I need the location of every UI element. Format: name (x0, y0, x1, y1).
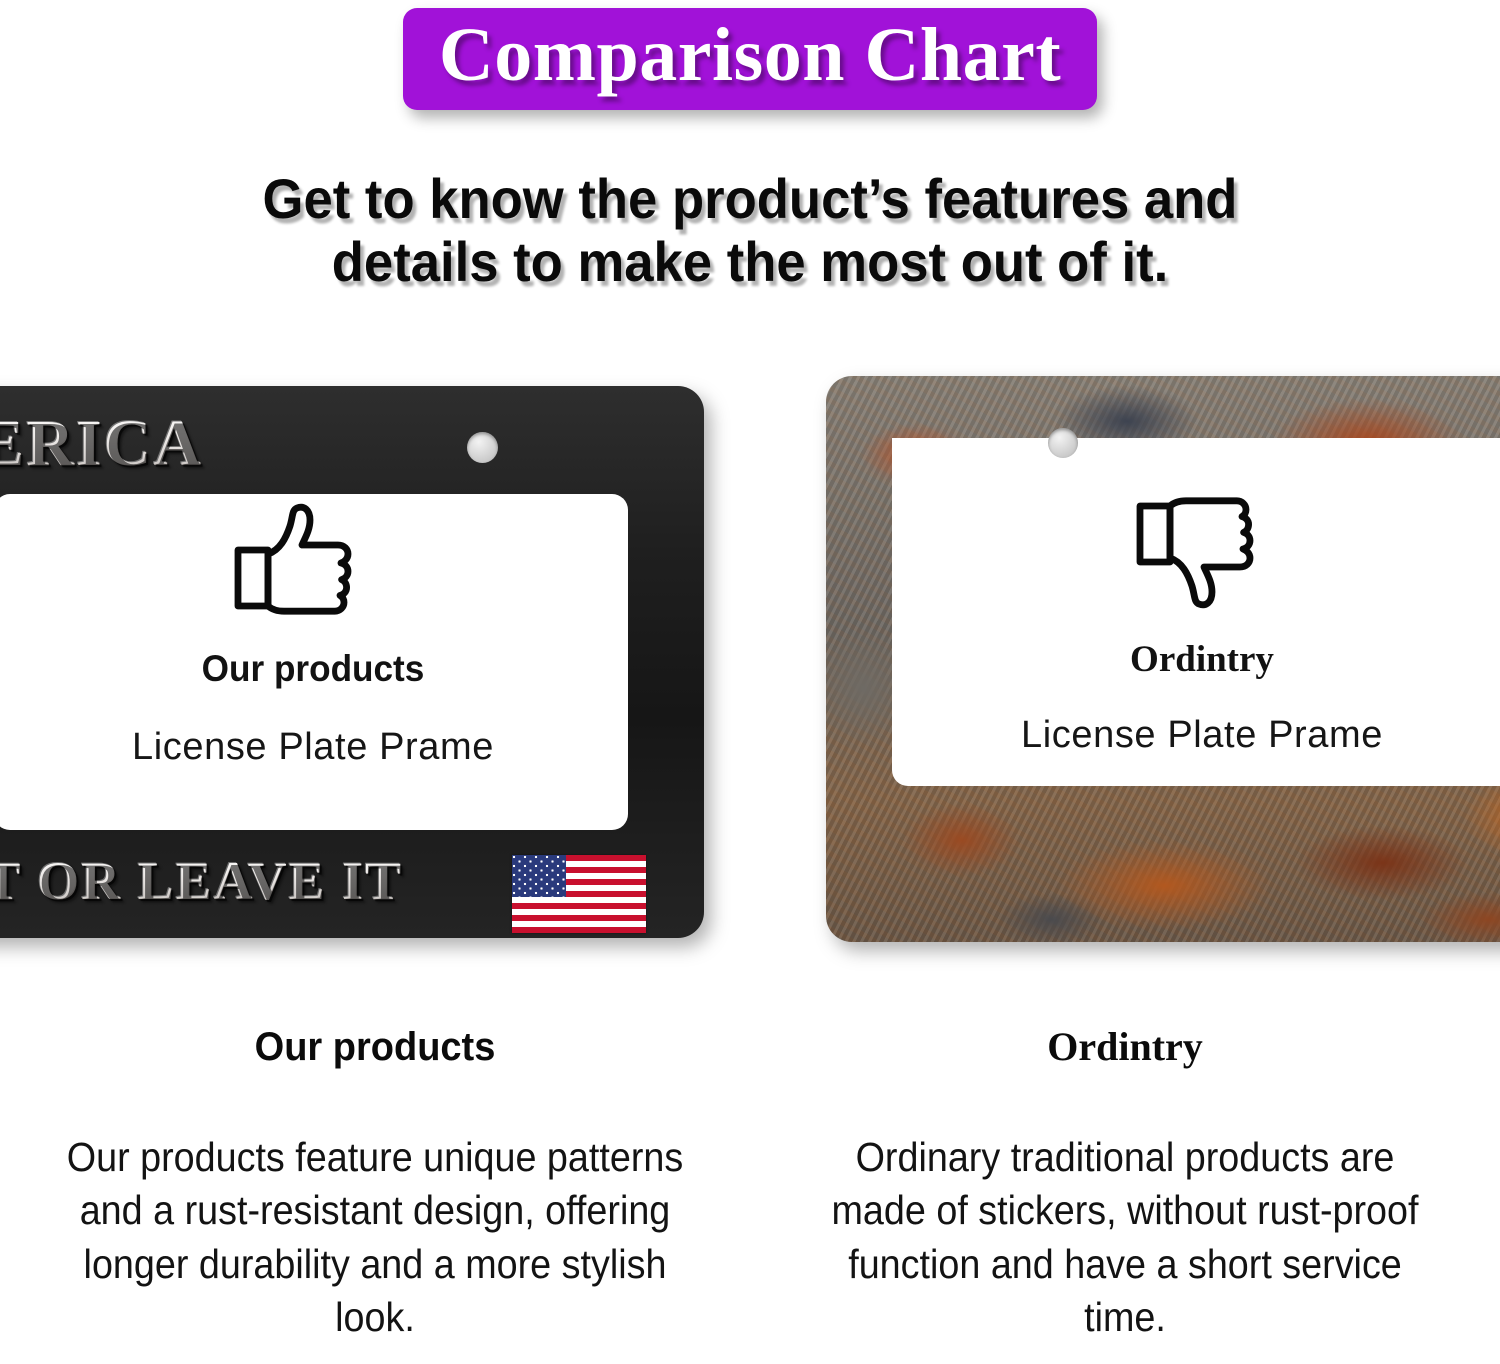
frame-top-text: MERICA (0, 406, 203, 482)
our-product-license-plate-frame: MERICA E IT OR LEAVE IT Our products Lic… (0, 386, 704, 938)
our-product-column: Our products Our products feature unique… (0, 1025, 750, 1364)
us-flag-icon (512, 855, 646, 933)
mounting-hole-icon (467, 432, 498, 463)
frame-bottom-text: E IT OR LEAVE IT (0, 850, 403, 912)
comparison-columns: Our products Our products feature unique… (0, 1025, 1500, 1364)
ordinary-product-column: Ordintry Ordinary traditional products a… (750, 1025, 1500, 1364)
comparison-chart-page: Comparison Chart Get to know the product… (0, 0, 1500, 1364)
ordinary-product-window-label: Ordintry (826, 638, 1500, 681)
ordinary-product-license-plate-frame: Ordintry License Plate Prame (826, 376, 1500, 942)
thumbs-down-icon (1134, 494, 1258, 610)
flag-canton (512, 855, 566, 897)
thumbs-up-icon (232, 502, 356, 618)
flag-stars (512, 855, 566, 897)
ordinary-product-column-body: Ordinary traditional products are made o… (811, 1131, 1438, 1344)
ordinary-product-column-heading: Ordintry (784, 1025, 1466, 1069)
our-product-window-sublabel: License Plate Prame (0, 726, 704, 769)
our-product-column-heading: Our products (51, 1025, 699, 1069)
plate-corner-chamfer (467, 494, 545, 550)
ordinary-product-window-sublabel: License Plate Prame (826, 714, 1500, 757)
our-product-window-label: Our products (0, 648, 684, 690)
mounting-hole-icon (1048, 428, 1078, 458)
plate-corner-chamfer (892, 438, 968, 488)
our-product-column-body: Our products feature unique patterns and… (61, 1131, 688, 1344)
